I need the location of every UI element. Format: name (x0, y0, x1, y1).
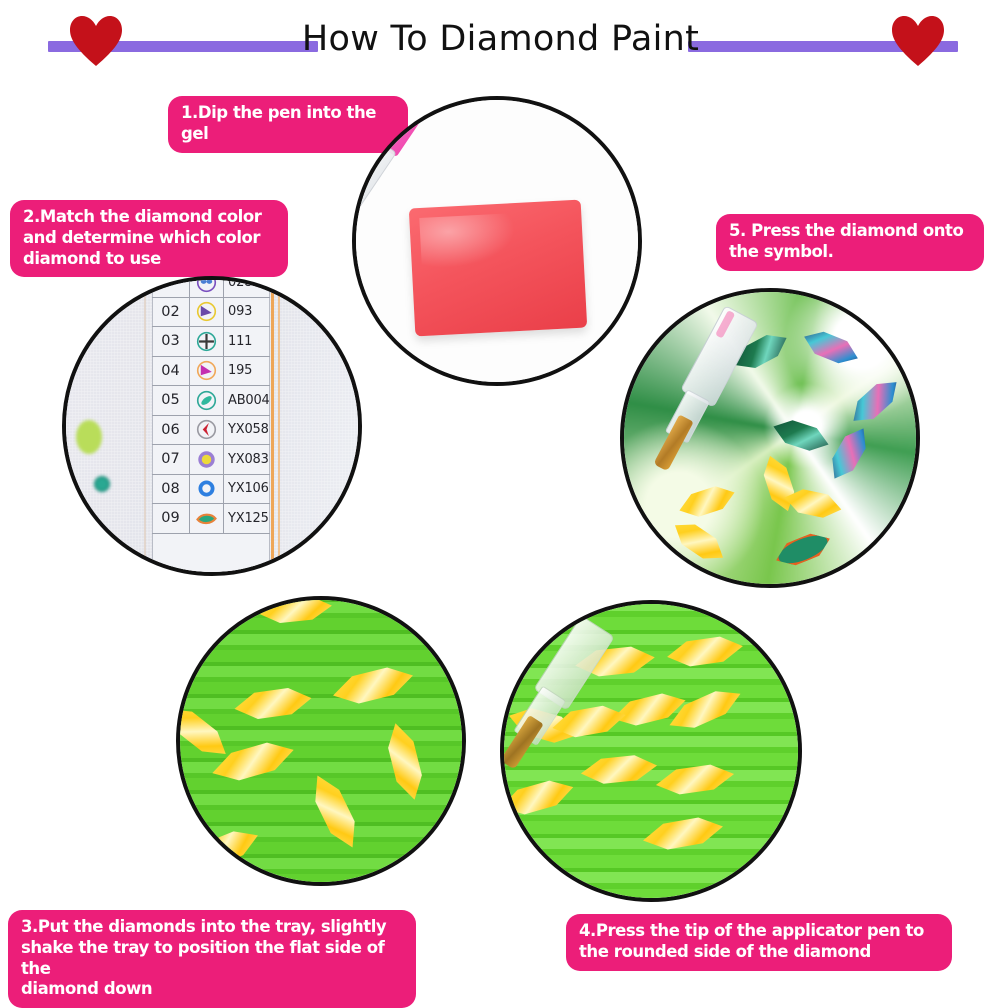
symbol-code-cell: 07 (152, 445, 190, 474)
step-2-label: 2.Match the diamond color and determine … (10, 200, 288, 277)
photo-pen-picking-diamond (500, 600, 802, 902)
purple-triangle-icon (190, 298, 224, 327)
plus-icon (190, 327, 224, 356)
symbol-code-cell: 06 (152, 416, 190, 445)
symbol-chart-table: 02802093031110419505AB00406YX05807YX0830… (152, 276, 270, 534)
symbol-reference-cell: 195 (224, 363, 270, 378)
photo-placing-diamond (620, 288, 920, 588)
symbol-chart-row: 02093 (152, 298, 270, 328)
symbol-chart-row: 05AB004 (152, 386, 270, 416)
orange-guide-line-secondary (278, 280, 280, 576)
symbol-chart-row: 03111 (152, 327, 270, 357)
symbol-code-cell: 03 (152, 327, 190, 356)
magenta-triangle-icon (190, 357, 224, 386)
symbol-reference-cell: YX125 (224, 511, 270, 526)
symbol-code-cell (152, 276, 190, 297)
symbol-code-cell: 02 (152, 298, 190, 327)
printed-mark-lime (76, 420, 102, 454)
orange-guide-line (271, 280, 274, 576)
symbol-reference-cell: 093 (224, 304, 270, 319)
gel-square (409, 200, 587, 337)
symbol-reference-cell: 028 (224, 276, 270, 290)
symbol-reference-cell: YX058 (224, 422, 270, 437)
red-chevron-icon (190, 416, 224, 445)
symbol-chart-row: 08YX106 (152, 475, 270, 505)
printed-mark-teal (94, 476, 110, 492)
photo-symbol-chart: 02802093031110419505AB00406YX05807YX0830… (62, 276, 362, 576)
step-5-label: 5. Press the diamond onto the symbol. (716, 214, 984, 271)
symbol-reference-cell: AB004 (224, 393, 270, 408)
canvas-guide-line (144, 280, 146, 576)
yellow-dot-in-purple-ring-icon (190, 445, 224, 474)
symbol-reference-cell: YX106 (224, 481, 270, 496)
step-3-label: 3.Put the diamonds into the tray, slight… (8, 910, 416, 1008)
printed-mark-teal-small (70, 512, 83, 525)
page-header: How To Diamond Paint (0, 0, 1001, 86)
symbol-chart-row: 028 (152, 276, 270, 298)
symbol-code-cell: 09 (152, 504, 190, 533)
photo-pen-in-gel (352, 96, 642, 386)
symbol-reference-cell: YX083 (224, 452, 270, 467)
step-4-label: 4.Press the tip of the applicator pen to… (566, 914, 952, 971)
symbol-code-cell: 04 (152, 357, 190, 386)
symbol-code-cell: 08 (152, 475, 190, 504)
symbol-chart-row: 09YX125 (152, 504, 270, 534)
page-title: How To Diamond Paint (0, 19, 1001, 59)
purple-circle-double-dot-icon (190, 276, 224, 297)
blue-ring-icon (190, 475, 224, 504)
symbol-code-cell: 05 (152, 386, 190, 415)
symbol-chart-row: 06YX058 (152, 416, 270, 446)
symbol-reference-cell: 111 (224, 334, 270, 349)
teal-oval-icon (190, 386, 224, 415)
photo-diamonds-in-tray (176, 596, 466, 886)
symbol-chart-row: 04195 (152, 357, 270, 387)
symbol-chart-row: 07YX083 (152, 445, 270, 475)
green-leaf-icon (190, 504, 224, 533)
